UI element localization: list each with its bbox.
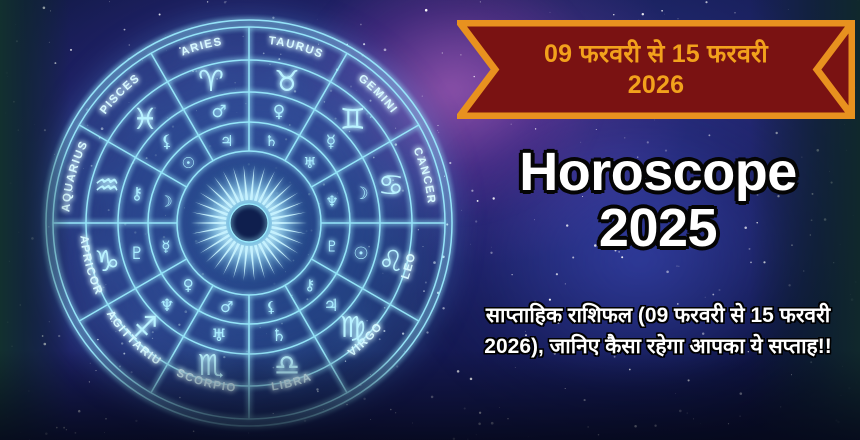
subtitle-text: साप्ताहिक राशिफल (09 फरवरी से 15 फरवरी 2… [462, 300, 854, 362]
planet-glyph: ☉ [353, 244, 368, 264]
planet-glyph: ♂ [211, 102, 226, 122]
planet-glyph: ⚸ [161, 132, 173, 152]
zodiac-sign-glyph: ♉ [274, 64, 300, 98]
date-range-ribbon: 09 फरवरी से 15 फरवरी 2026 [457, 20, 855, 119]
planet-glyph: ♇ [325, 237, 338, 255]
planet-glyph: ♇ [129, 244, 144, 264]
planet-glyph: ☿ [161, 237, 170, 255]
zodiac-sign-glyph: ♋ [378, 168, 404, 202]
planet-glyph: ♆ [159, 296, 174, 316]
zodiac-sign-glyph: ♍ [340, 310, 366, 344]
planet-glyph: ♄ [265, 132, 278, 150]
planet-glyph: ⚷ [304, 276, 315, 294]
planet-glyph: ♅ [303, 154, 316, 172]
planet-glyph: ⚷ [131, 184, 143, 204]
zodiac-sign-glyph: ♌ [378, 244, 404, 278]
planet-glyph: ♀ [183, 276, 194, 294]
planet-glyph: ⚸ [266, 298, 277, 316]
planet-glyph: ♃ [220, 132, 233, 150]
planet-glyph: ♅ [211, 326, 226, 346]
planet-glyph: ☽ [353, 184, 368, 204]
zodiac-sign-glyph: ♑ [94, 244, 120, 278]
ribbon-line-1: 09 फरवरी से 15 फरवरी [544, 39, 768, 70]
planet-glyph: ♃ [323, 296, 338, 316]
zodiac-sign-glyph: ♊ [340, 102, 366, 136]
page-title: Horoscope 2025 [462, 145, 854, 256]
zodiac-sign-glyph: ♈ [198, 64, 224, 98]
planet-glyph: ♀ [273, 102, 285, 122]
title-line-2: 2025 [462, 201, 854, 257]
planet-glyph: ☽ [159, 193, 172, 211]
planet-glyph: ☿ [326, 132, 336, 152]
planet-glyph: ♆ [325, 193, 338, 211]
zodiac-sign-glyph: ♓ [132, 102, 158, 136]
zodiac-sign-glyph: ♒ [94, 168, 120, 202]
planet-glyph: ☉ [181, 154, 194, 172]
planet-glyph: ♂ [220, 298, 233, 316]
title-line-1: Horoscope [519, 142, 797, 202]
bottom-edge-vignette [0, 350, 860, 440]
horoscope-banner-graphic: ARIESTAURUSGEMINICANCERLEOVIRGOLIBRASCOR… [0, 0, 860, 440]
zodiac-sign-glyph: ♐ [132, 310, 158, 344]
ribbon-line-2: 2026 [628, 70, 684, 101]
planet-glyph: ♄ [271, 326, 286, 346]
